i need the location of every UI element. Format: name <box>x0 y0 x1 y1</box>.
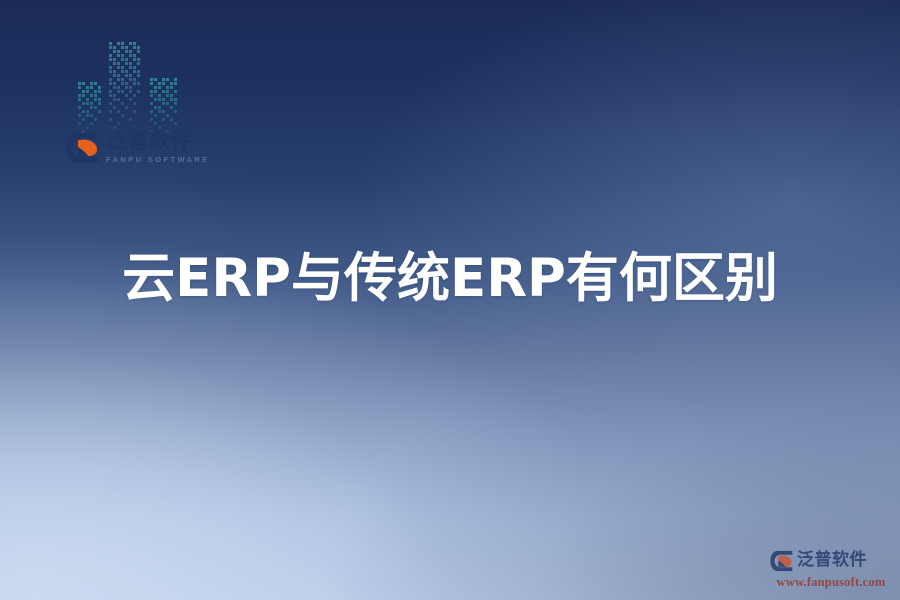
skyline-pixel <box>113 98 116 101</box>
skyline-pixel <box>78 82 81 85</box>
skyline-pixel <box>82 110 85 113</box>
skyline-pixel <box>117 110 120 113</box>
skyline-pixel <box>121 54 124 57</box>
skyline-pixel <box>109 54 112 57</box>
fanpu-logo-mark <box>66 132 99 163</box>
skyline-pixel <box>121 90 124 93</box>
skyline-pixel <box>133 66 136 69</box>
skyline-pixel <box>133 70 136 73</box>
skyline-pixel <box>109 78 112 81</box>
skyline-column <box>150 78 180 134</box>
skyline-pixel <box>94 106 97 109</box>
skyline-pixel <box>117 98 120 101</box>
fanpu-logo-mark-watermark <box>770 550 793 572</box>
skyline-pixel <box>158 110 161 113</box>
skyline-pixel <box>121 66 124 69</box>
skyline-pixel <box>174 98 177 101</box>
skyline-pixel <box>125 46 128 49</box>
skyline-pixel <box>117 74 120 77</box>
skyline-pixel <box>78 106 81 109</box>
company-name-en: FANPU SOFTWARE <box>106 156 210 164</box>
skyline-pixel <box>162 110 165 113</box>
skyline-pixel <box>170 86 173 89</box>
skyline-pixel <box>150 94 153 97</box>
skyline-pixel <box>78 98 81 101</box>
skyline-pixel <box>129 78 132 81</box>
skyline-pixel <box>154 122 157 125</box>
skyline-pixel <box>113 82 116 85</box>
skyline-pixel <box>129 98 132 101</box>
skyline-pixel <box>82 118 85 121</box>
skyline-pixel <box>129 54 132 57</box>
skyline-pixel <box>133 42 136 45</box>
skyline-pixel <box>170 98 173 101</box>
skyline-pixel <box>166 78 169 81</box>
digital-skyline-graphic <box>78 42 182 134</box>
skyline-pixel <box>90 106 93 109</box>
skyline-pixel <box>129 118 132 121</box>
skyline-pixel <box>129 62 132 65</box>
skyline-pixel <box>90 114 93 117</box>
skyline-pixel <box>117 90 120 93</box>
skyline-pixel <box>109 66 112 69</box>
skyline-pixel <box>117 78 120 81</box>
skyline-pixel <box>125 58 128 61</box>
skyline-pixel <box>150 102 153 105</box>
banner-root: 泛普软件 FANPU SOFTWARE 云ERP与传统ERP有何区别 泛普软件 … <box>0 0 900 600</box>
skyline-pixel <box>158 82 161 85</box>
skyline-pixel <box>113 74 116 77</box>
watermark-url: www.fanpusoft.com <box>770 576 892 589</box>
skyline-pixel <box>117 62 120 65</box>
page-title: 云ERP与传统ERP有何区别 <box>122 248 778 311</box>
skyline-pixel <box>113 62 116 65</box>
skyline-pixel <box>150 118 153 121</box>
skyline-pixel <box>166 114 169 117</box>
skyline-pixel <box>125 82 128 85</box>
skyline-pixel <box>137 50 140 53</box>
skyline-pixel <box>166 102 169 105</box>
skyline-pixel <box>174 78 177 81</box>
skyline-pixel <box>154 114 157 117</box>
skyline-pixel <box>117 86 120 89</box>
skyline-column <box>78 82 104 134</box>
watermark: 泛普软件 www.fanpusoft.com <box>770 550 892 589</box>
skyline-pixel <box>125 50 128 53</box>
skyline-pixel <box>125 70 128 73</box>
skyline-pixel <box>90 82 93 85</box>
skyline-pixel <box>90 122 93 125</box>
skyline-pixel <box>174 82 177 85</box>
skyline-pixel <box>121 46 124 49</box>
skyline-pixel <box>129 74 132 77</box>
skyline-pixel <box>162 82 165 85</box>
skyline-pixel <box>162 102 165 105</box>
skyline-pixel <box>117 66 120 69</box>
skyline-pixel <box>129 42 132 45</box>
skyline-pixel <box>166 90 169 93</box>
skyline-pixel <box>86 102 89 105</box>
skyline-pixel <box>113 86 116 89</box>
skyline-pixel <box>109 46 112 49</box>
skyline-pixel <box>98 98 101 101</box>
skyline-pixel <box>137 90 140 93</box>
skyline-pixel <box>137 46 140 49</box>
skyline-pixel <box>137 82 140 85</box>
skyline-pixel <box>90 86 93 89</box>
skyline-pixel <box>133 82 136 85</box>
skyline-pixel <box>158 98 161 101</box>
skyline-pixel <box>94 90 97 93</box>
skyline-pixel <box>129 90 132 93</box>
skyline-pixel <box>174 122 177 125</box>
skyline-pixel <box>109 90 112 93</box>
skyline-pixel <box>94 94 97 97</box>
fanpu-logo-wordmark: 泛普软件 FANPU SOFTWARE <box>106 131 210 163</box>
skyline-pixel <box>109 82 112 85</box>
skyline-pixel <box>137 62 140 65</box>
skyline-pixel <box>166 94 169 97</box>
skyline-pixel <box>133 46 136 49</box>
skyline-pixel <box>78 122 81 125</box>
skyline-pixel <box>150 110 153 113</box>
skyline-pixel <box>98 110 101 113</box>
skyline-pixel <box>133 58 136 61</box>
skyline-pixel <box>121 78 124 81</box>
skyline-pixel <box>162 98 165 101</box>
skyline-pixel <box>78 86 81 89</box>
skyline-pixel <box>125 86 128 89</box>
skyline-pixel <box>109 58 112 61</box>
skyline-pixel <box>117 42 120 45</box>
skyline-pixel <box>94 118 97 121</box>
skyline-pixel <box>125 106 128 109</box>
page-title-container: 云ERP与传统ERP有何区别 <box>0 248 900 311</box>
skyline-pixel <box>162 118 165 121</box>
skyline-pixel <box>109 102 112 105</box>
skyline-pixel <box>86 98 89 101</box>
skyline-pixel <box>150 82 153 85</box>
skyline-pixel <box>98 86 101 89</box>
skyline-pixel <box>133 102 136 105</box>
skyline-pixel <box>125 74 128 77</box>
skyline-pixel <box>86 110 89 113</box>
skyline-pixel <box>137 58 140 61</box>
skyline-pixel <box>121 82 124 85</box>
skyline-pixel <box>133 110 136 113</box>
skyline-pixel <box>121 42 124 45</box>
skyline-pixel <box>113 70 116 73</box>
skyline-pixel <box>121 70 124 73</box>
skyline-pixel <box>117 50 120 53</box>
skyline-pixel <box>174 90 177 93</box>
skyline-pixel <box>109 94 112 97</box>
skyline-pixel <box>121 102 124 105</box>
skyline-pixel <box>129 66 132 69</box>
skyline-pixel <box>129 50 132 53</box>
skyline-pixel <box>86 114 89 117</box>
skyline-pixel <box>113 50 116 53</box>
skyline-pixel <box>162 90 165 93</box>
skyline-pixel <box>113 106 116 109</box>
skyline-pixel <box>82 90 85 93</box>
skyline-pixel <box>109 42 112 45</box>
skyline-pixel <box>158 106 161 109</box>
skyline-pixel <box>125 94 128 97</box>
skyline-pixel <box>158 94 161 97</box>
fanpu-logo: 泛普软件 FANPU SOFTWARE <box>66 131 210 163</box>
skyline-pixel <box>133 94 136 97</box>
skyline-pixel <box>158 86 161 89</box>
skyline-pixel <box>170 94 173 97</box>
skyline-pixel <box>90 94 93 97</box>
skyline-column <box>109 42 143 134</box>
company-name-cn: 泛普软件 <box>106 131 210 153</box>
skyline-pixel <box>113 58 116 61</box>
skyline-pixel <box>150 78 153 81</box>
skyline-pixel <box>117 54 120 57</box>
skyline-pixel <box>90 102 93 105</box>
skyline-pixel <box>137 70 140 73</box>
skyline-pixel <box>109 70 112 73</box>
skyline-pixel <box>82 102 85 105</box>
skyline-pixel <box>82 82 85 85</box>
skyline-pixel <box>78 114 81 117</box>
skyline-pixel <box>154 106 157 109</box>
skyline-pixel <box>94 98 97 101</box>
skyline-pixel <box>129 86 132 89</box>
skyline-pixel <box>137 74 140 77</box>
skyline-pixel <box>98 102 101 105</box>
skyline-pixel <box>98 90 101 93</box>
skyline-pixel <box>154 86 157 89</box>
skyline-pixel <box>150 90 153 93</box>
skyline-pixel <box>78 94 81 97</box>
skyline-pixel <box>121 114 124 117</box>
skyline-pixel <box>133 54 136 57</box>
skyline-pixel <box>121 58 124 61</box>
skyline-pixel <box>109 110 112 113</box>
skyline-pixel <box>113 46 116 49</box>
skyline-pixel <box>170 106 173 109</box>
skyline-pixel <box>170 82 173 85</box>
skyline-pixel <box>174 110 177 113</box>
skyline-pixel <box>109 118 112 121</box>
skyline-pixel <box>154 78 157 81</box>
skyline-pixel <box>154 98 157 101</box>
skyline-pixel <box>86 90 89 93</box>
skyline-pixel <box>82 94 85 97</box>
skyline-pixel <box>113 94 116 97</box>
skyline-pixel <box>125 62 128 65</box>
skyline-pixel <box>154 90 157 93</box>
skyline-pixel <box>166 86 169 89</box>
skyline-pixel <box>86 126 89 129</box>
skyline-pixel <box>117 122 120 125</box>
watermark-logo-row: 泛普软件 <box>770 550 892 572</box>
watermark-company-name: 泛普软件 <box>797 552 867 569</box>
skyline-pixel <box>170 118 173 121</box>
skyline-pixel <box>162 78 165 81</box>
skyline-pixel <box>133 78 136 81</box>
skyline-pixel <box>94 82 97 85</box>
skyline-pixel <box>86 86 89 89</box>
skyline-pixel <box>174 102 177 105</box>
